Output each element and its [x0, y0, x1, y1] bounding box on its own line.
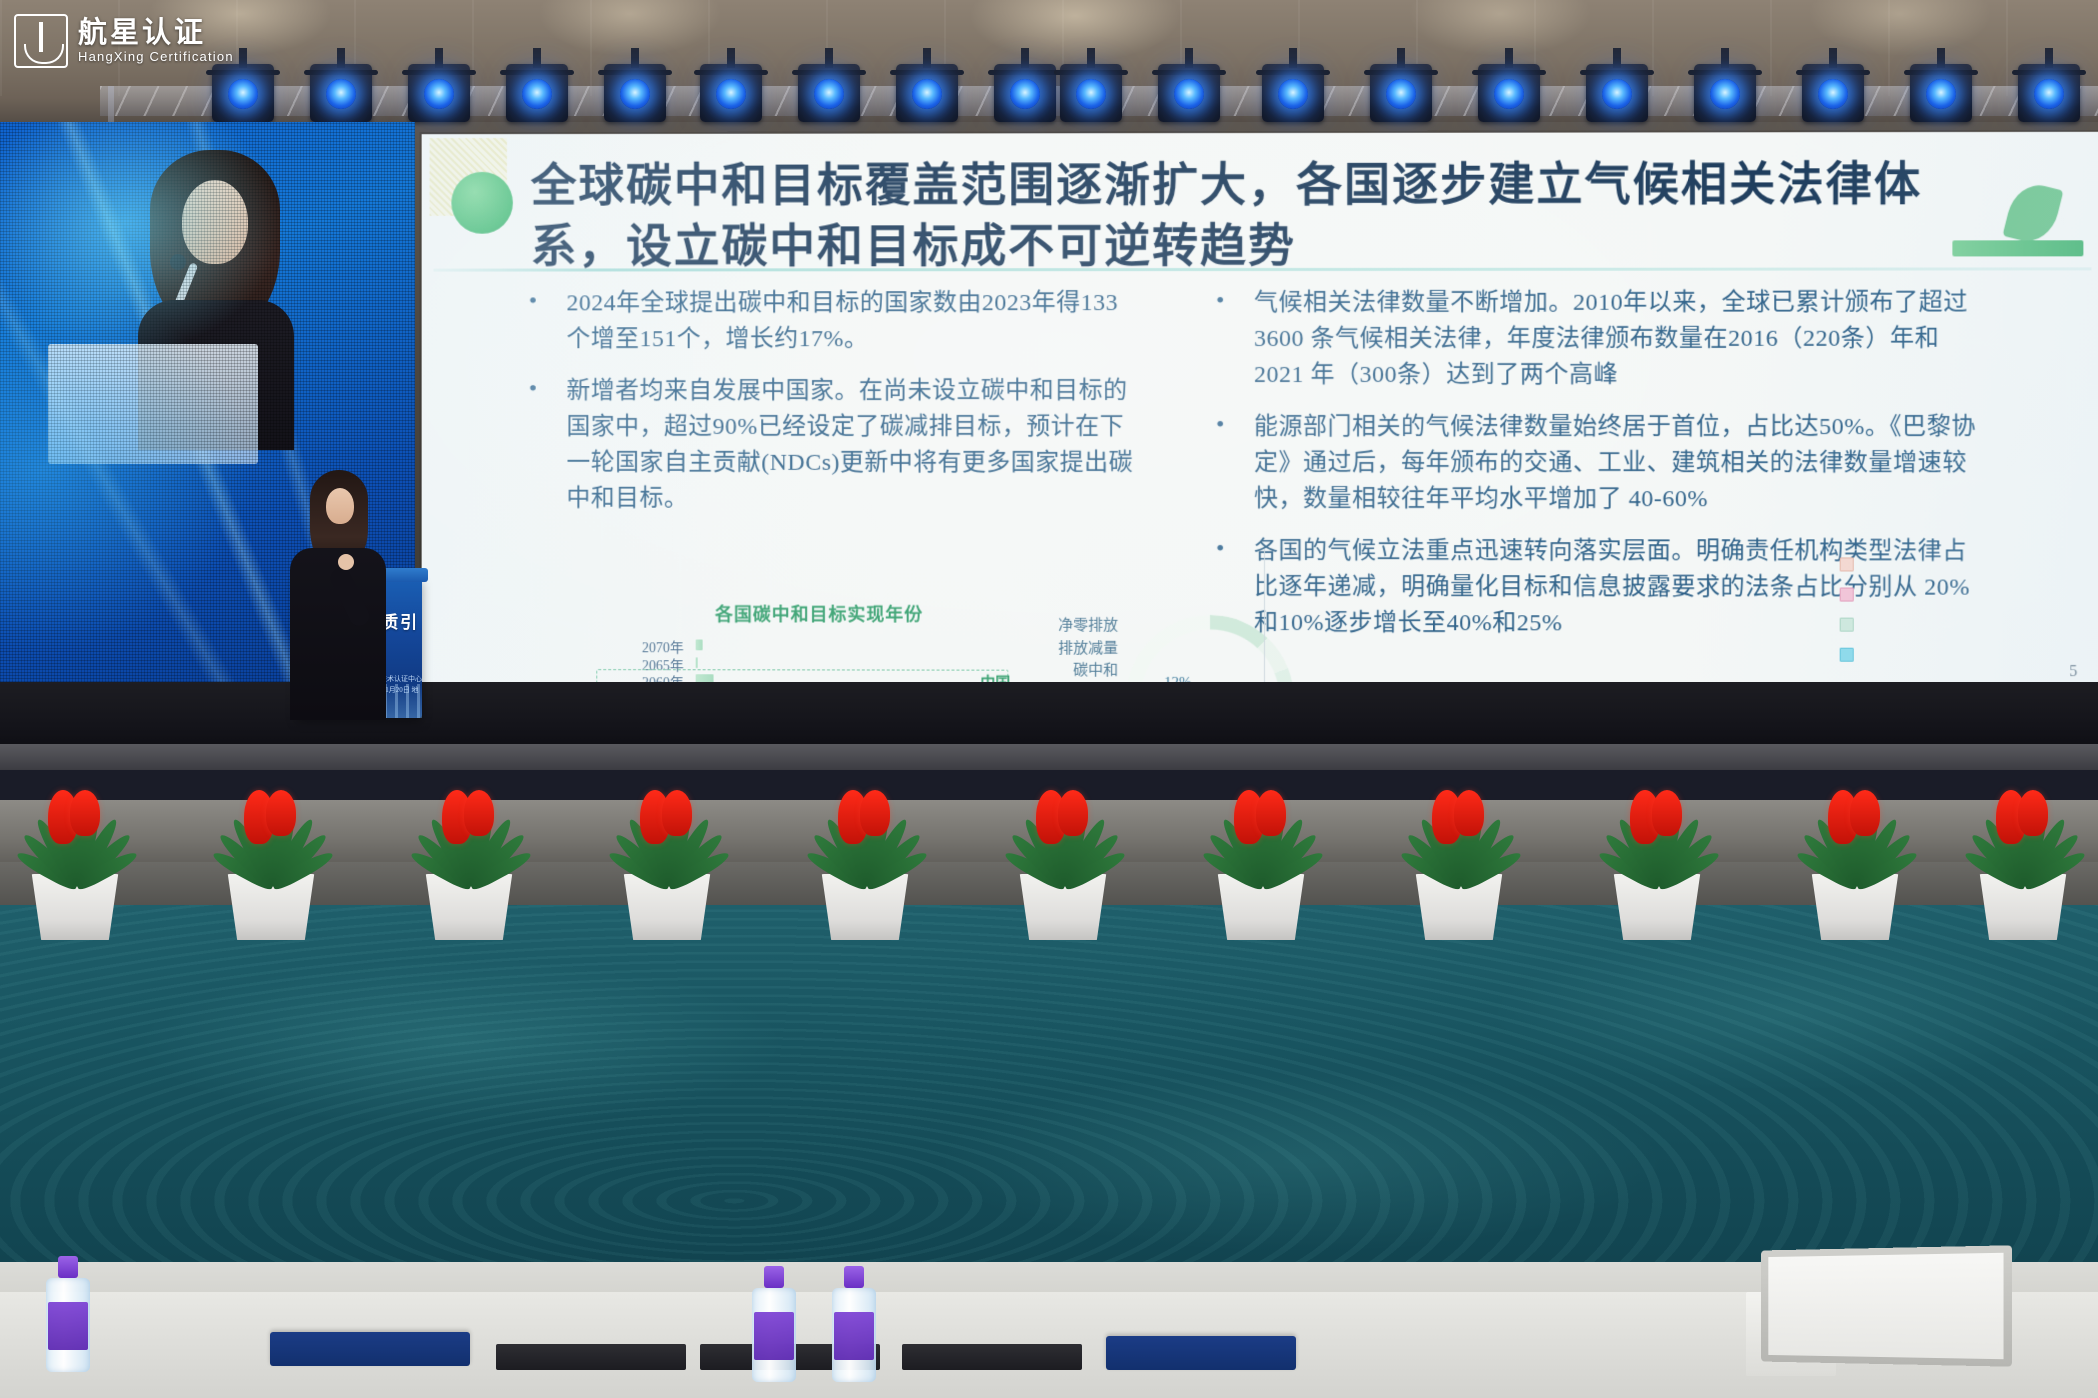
speaker-person [282, 470, 392, 720]
stage-light-icon [1586, 64, 1648, 122]
water-bottle [46, 1252, 90, 1372]
video-feed-speaker [120, 150, 310, 430]
speaker-torso [138, 300, 294, 450]
stage-light-icon [1370, 64, 1432, 122]
potted-plant [1780, 780, 1930, 940]
speaker-face [326, 488, 354, 524]
plant-bloom [1850, 790, 1880, 836]
speaker-hair [150, 150, 280, 335]
stage-light-icon [506, 64, 568, 122]
stage-light-icon [212, 64, 274, 122]
rocket-emblem-icon [14, 14, 68, 68]
legend-swatch [1840, 588, 1854, 602]
plant-bloom [464, 790, 494, 836]
chart-legend [1840, 557, 1862, 677]
chart-title: 各国碳中和目标实现年份 [680, 600, 959, 626]
video-feed-podium [48, 344, 258, 464]
plant-bloom [1454, 790, 1484, 836]
donut-label-emission-cut: 排放减量 [1018, 637, 1118, 660]
slide-right-column: 气候相关法律数量不断增加。2010年以来，全球已累计颁布了超过 3600 条气候… [1208, 285, 1981, 658]
speaker-hand [338, 554, 354, 570]
stage-light-icon [604, 64, 666, 122]
left-bullet-list: 2024年全球提出碳中和目标的国家数由2023年得133个增至151个，增长约1… [521, 285, 1138, 517]
decorative-green-bar [1952, 240, 2083, 256]
speaker-face [182, 180, 248, 264]
list-item: 2024年全球提出碳中和目标的国家数由2023年得133个增至151个，增长约1… [521, 285, 1138, 357]
stage-light-icon [1694, 64, 1756, 122]
legend-swatch [1840, 618, 1854, 632]
notepad [902, 1344, 1082, 1370]
stage-light-icon [1262, 64, 1324, 122]
presentation-slide: 全球碳中和目标覆盖范围逐渐扩大，各国逐步建立气候相关法律体系，设立碳中和目标成不… [422, 132, 2098, 691]
logo-english-name: HangXing Certification [78, 49, 234, 64]
donut-category-labels: 净零排放 排放减量 碳中和 气候中性 [1018, 615, 1118, 691]
microphone-icon [170, 254, 186, 270]
laptop-lid [1761, 1245, 2012, 1366]
stage-light-icon [798, 64, 860, 122]
chart-carbon-neutral-target-years: 各国碳中和目标实现年份 2070年 2065年 2060年 中国 [600, 606, 1018, 691]
laptop-screen [1768, 1253, 2003, 1359]
slide-title: 全球碳中和目标覆盖范围逐渐扩大，各国逐步建立气候相关法律体系，设立碳中和目标成不… [531, 154, 1941, 277]
stage-light-icon [2018, 64, 2080, 122]
laptop [1752, 1248, 2082, 1398]
list-item: 能源部门相关的气候法律数量始终居于首位，占比达50%。《巴黎协定》通过后，每年颁… [1208, 409, 1981, 517]
water-bottle [752, 1262, 796, 1382]
plant-bloom [662, 790, 692, 836]
decorative-green-circle [451, 172, 513, 234]
stage-light-icon [1158, 64, 1220, 122]
legend-item [1840, 618, 1862, 632]
bottle-label [834, 1312, 874, 1360]
plant-bloom [2018, 790, 2048, 836]
list-item: 气候相关法律数量不断增加。2010年以来，全球已累计颁布了超过 3600 条气候… [1208, 285, 1981, 393]
leaf-icon [2002, 179, 2063, 247]
bottle-label [754, 1312, 794, 1360]
stage-light-icon [994, 64, 1056, 122]
donut-label-carbon-neutral: 碳中和 [1018, 660, 1118, 683]
logo-chinese-name: 航星认证 [78, 18, 234, 48]
potted-plant [1186, 780, 1336, 940]
potted-plant [1948, 780, 2098, 940]
notepad [496, 1344, 686, 1370]
table-row: 2070年 [600, 636, 1018, 653]
slide-left-column: 2024年全球提出碳中和目标的国家数由2023年得133个增至151个，增长约1… [521, 285, 1138, 533]
potted-plant [988, 780, 1138, 940]
plant-bloom [70, 790, 100, 836]
stage-light-icon [896, 64, 958, 122]
bar [696, 657, 698, 668]
plant-bloom [266, 790, 296, 836]
plant-bloom [1058, 790, 1088, 836]
plant-bloom [1256, 790, 1286, 836]
potted-plant [1384, 780, 1534, 940]
bottle-cap [844, 1266, 864, 1288]
potted-plant [196, 780, 346, 940]
legend-item [1840, 648, 1862, 662]
stage-light-icon [1478, 64, 1540, 122]
bottle-cap [58, 1256, 78, 1278]
water-bottle [832, 1262, 876, 1382]
potted-plant [0, 780, 150, 940]
potted-plant [790, 780, 940, 940]
bottle-cap [764, 1266, 784, 1288]
plant-bloom [860, 790, 890, 836]
document-folder [270, 1332, 470, 1366]
stage-light-icon [408, 64, 470, 122]
chart-plot-area [1264, 549, 1826, 691]
donut-label-net-zero: 净零排放 [1018, 615, 1118, 638]
stage-light-icon [700, 64, 762, 122]
slide-page-number: 5 [2069, 663, 2077, 681]
legend-swatch [1840, 557, 1854, 571]
broadcast-logo: 航星认证 HangXing Certification [14, 10, 244, 72]
stage-light-icon [310, 64, 372, 122]
plant-bloom [1652, 790, 1682, 836]
stage-light-icon [1802, 64, 1864, 122]
stage-light-icon [1060, 64, 1122, 122]
potted-plant [394, 780, 544, 940]
document-folder [1106, 1336, 1296, 1370]
bottle-label [48, 1302, 88, 1350]
stage-light-icon [1910, 64, 1972, 122]
legend-item [1840, 557, 1862, 571]
bar [696, 639, 703, 650]
stage-edge [0, 744, 2098, 770]
logo-text: 航星认证 HangXing Certification [78, 18, 234, 63]
conference-stage-photo: 全球碳中和目标覆盖范围逐渐扩大，各国逐步建立气候相关法律体系，设立碳中和目标成不… [0, 0, 2098, 1398]
legend-swatch [1840, 648, 1854, 662]
microphone-stem [174, 262, 199, 308]
potted-plant [592, 780, 742, 940]
potted-plant [1582, 780, 1732, 940]
legend-item [1840, 588, 1862, 602]
list-item: 新增者均来自发展中国家。在尚未设立碳中和目标的国家中，超过90%已经设定了碳减排… [521, 373, 1138, 517]
chart-climate-law-type-share [1208, 523, 1981, 691]
